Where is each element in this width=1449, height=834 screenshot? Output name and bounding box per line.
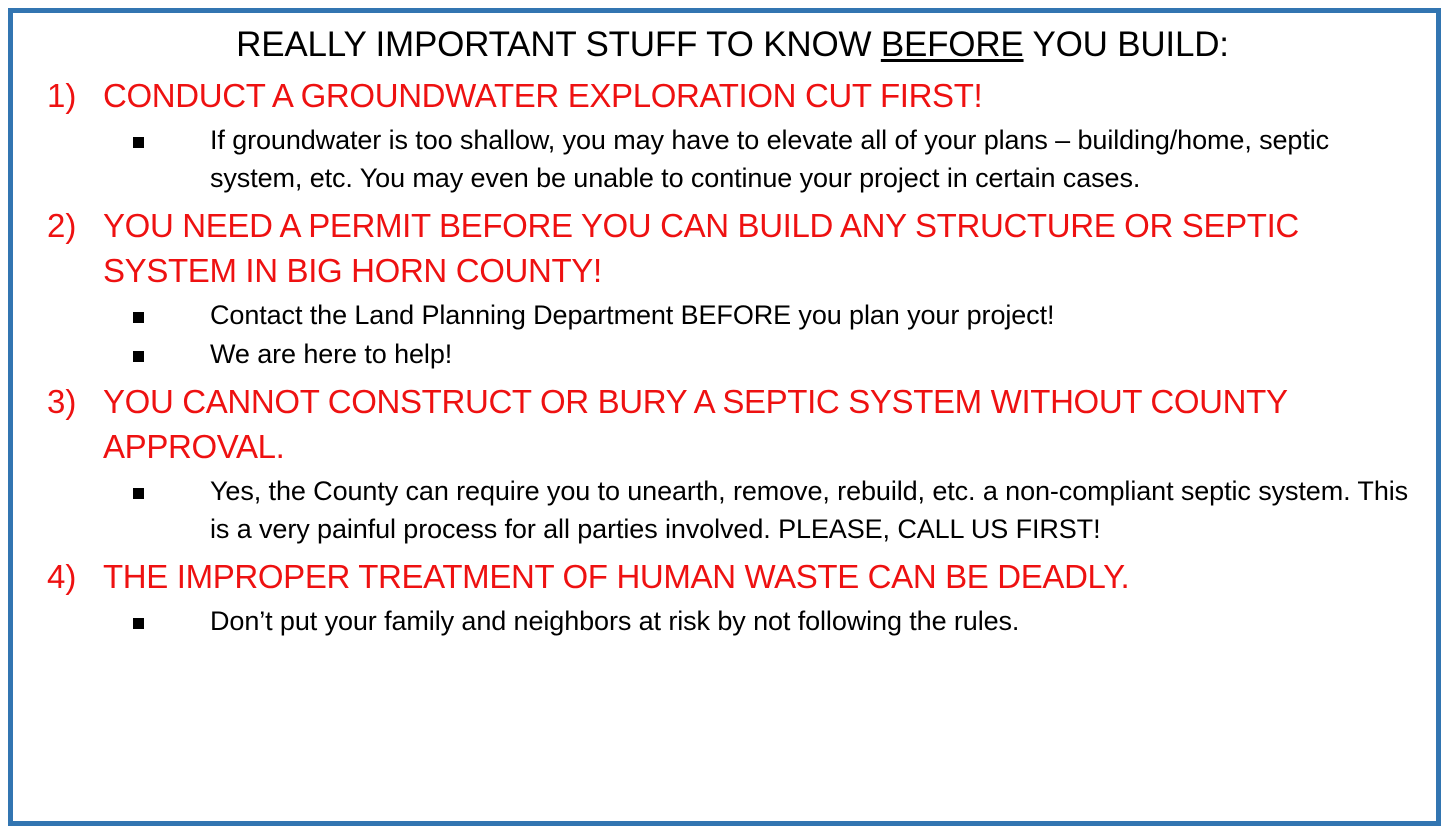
item-number: 3) <box>47 379 95 424</box>
list-item: 4) THE IMPROPER TREATMENT OF HUMAN WASTE… <box>27 554 1420 640</box>
item-heading: THE IMPROPER TREATMENT OF HUMAN WASTE CA… <box>103 554 1420 599</box>
sub-bullet-text: We are here to help! <box>210 335 1420 373</box>
slide-border-frame: REALLY IMPORTANT STUFF TO KNOW BEFORE YO… <box>8 8 1441 826</box>
item-heading: YOU CANNOT CONSTRUCT OR BURY A SEPTIC SY… <box>103 379 1420 469</box>
sub-bullet-text: Yes, the County can require you to unear… <box>210 472 1420 548</box>
sub-bullet-list: Don’t put your family and neighbors at r… <box>103 602 1420 640</box>
sub-bullet-list: Yes, the County can require you to unear… <box>103 472 1420 548</box>
sub-bullet-item: If groundwater is too shallow, you may h… <box>103 121 1420 197</box>
square-bullet-icon <box>133 312 144 323</box>
page-title: REALLY IMPORTANT STUFF TO KNOW BEFORE YO… <box>27 23 1420 67</box>
slide-content: REALLY IMPORTANT STUFF TO KNOW BEFORE YO… <box>13 13 1436 821</box>
sub-bullet-list: Contact the Land Planning Department BEF… <box>103 296 1420 373</box>
square-bullet-icon <box>133 488 144 499</box>
item-number: 1) <box>47 73 95 118</box>
list-item: 2) YOU NEED A PERMIT BEFORE YOU CAN BUIL… <box>27 203 1420 373</box>
page-title-emphasis: BEFORE <box>881 25 1024 64</box>
square-bullet-icon <box>133 618 144 629</box>
item-heading: CONDUCT A GROUNDWATER EXPLORATION CUT FI… <box>103 73 1420 118</box>
page-title-prefix: REALLY IMPORTANT STUFF TO KNOW <box>236 25 881 64</box>
sub-bullet-text: If groundwater is too shallow, you may h… <box>210 121 1420 197</box>
square-bullet-icon <box>133 137 144 148</box>
numbered-list: 1) CONDUCT A GROUNDWATER EXPLORATION CUT… <box>27 73 1420 640</box>
sub-bullet-item: Yes, the County can require you to unear… <box>103 472 1420 548</box>
sub-bullet-item: Contact the Land Planning Department BEF… <box>103 296 1420 334</box>
sub-bullet-item: We are here to help! <box>103 335 1420 373</box>
square-bullet-icon <box>133 351 144 362</box>
list-item: 3) YOU CANNOT CONSTRUCT OR BURY A SEPTIC… <box>27 379 1420 548</box>
page-title-suffix: YOU BUILD: <box>1024 25 1229 64</box>
sub-bullet-list: If groundwater is too shallow, you may h… <box>103 121 1420 197</box>
item-number: 4) <box>47 554 95 599</box>
item-number: 2) <box>47 203 95 248</box>
item-heading: YOU NEED A PERMIT BEFORE YOU CAN BUILD A… <box>103 203 1420 293</box>
sub-bullet-text: Don’t put your family and neighbors at r… <box>210 602 1420 640</box>
sub-bullet-item: Don’t put your family and neighbors at r… <box>103 602 1420 640</box>
sub-bullet-text: Contact the Land Planning Department BEF… <box>210 296 1420 334</box>
slide: REALLY IMPORTANT STUFF TO KNOW BEFORE YO… <box>0 0 1449 834</box>
list-item: 1) CONDUCT A GROUNDWATER EXPLORATION CUT… <box>27 73 1420 197</box>
